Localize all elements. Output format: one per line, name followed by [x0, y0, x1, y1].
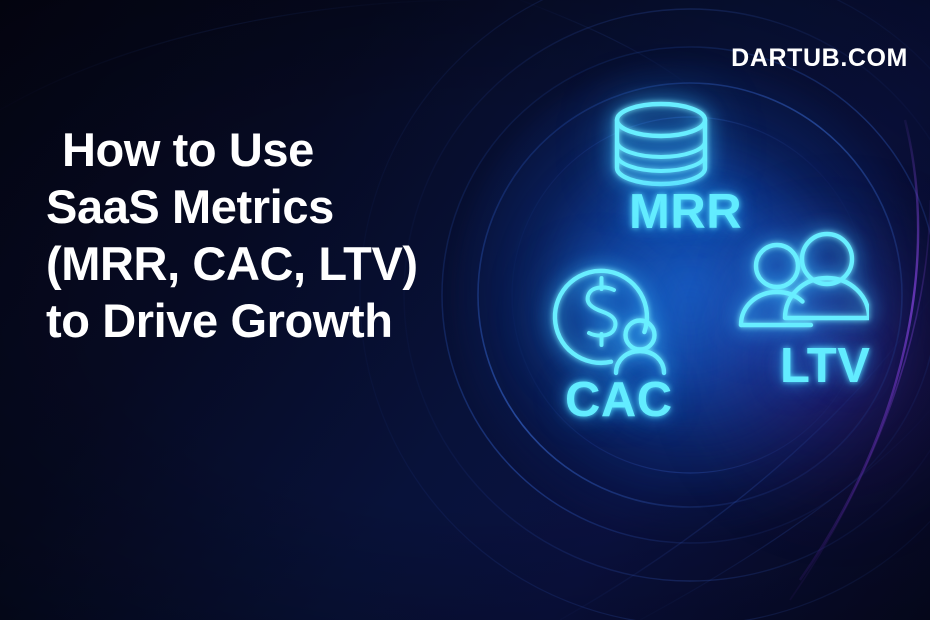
metric-ltv-label: LTV — [780, 338, 870, 394]
database-stack-icon — [605, 98, 717, 195]
page-title: How to Use SaaS Metrics (MRR, CAC, LTV) … — [46, 122, 516, 349]
title-line-2: SaaS Metrics — [46, 179, 516, 236]
metric-mrr-label: MRR — [629, 184, 742, 240]
poster-canvas: DARTUB.COM How to Use SaaS Metrics (MRR,… — [0, 0, 930, 620]
title-line-1: How to Use — [46, 122, 516, 179]
two-people-icon — [735, 230, 869, 347]
metrics-icon-cluster: MRR CAC — [455, 60, 925, 530]
dollar-circle-person-icon — [550, 260, 674, 383]
title-line-3: (MRR, CAC, LTV) — [46, 236, 516, 293]
title-line-4: to Drive Growth — [46, 293, 516, 350]
metric-cac-label: CAC — [565, 372, 673, 428]
